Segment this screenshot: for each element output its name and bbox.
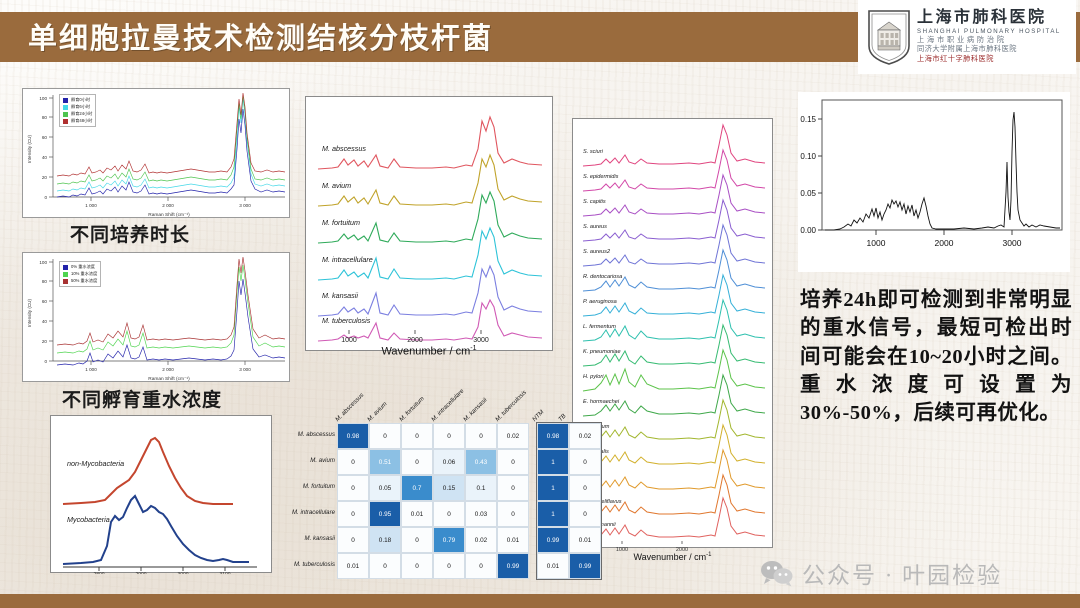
matrix-cell: 0.02 bbox=[465, 527, 497, 553]
other-bacteria-plot bbox=[573, 119, 774, 549]
matrix-row-label: M. intracellulare bbox=[289, 509, 335, 516]
svg-text:2 000: 2 000 bbox=[162, 203, 174, 208]
legend-label: 孵育48小时 bbox=[71, 118, 92, 124]
caption-d2o: 不同孵育重水浓度 bbox=[62, 385, 222, 412]
matrix-cell: 0 bbox=[401, 423, 433, 449]
matrix-cell: 0.06 bbox=[433, 449, 465, 475]
matrix-cell: 0.99 bbox=[497, 553, 529, 579]
legend-label: 孵育6小时 bbox=[71, 104, 90, 110]
svg-text:100: 100 bbox=[39, 96, 47, 101]
bacteria-label: S. aureus bbox=[583, 224, 607, 230]
svg-text:0.10: 0.10 bbox=[800, 152, 816, 161]
bacteria-label: S. capitis bbox=[583, 199, 606, 205]
matrix-col-header: NTM bbox=[531, 409, 545, 423]
matrix-cell: 0.01 bbox=[337, 553, 369, 579]
svg-text:0: 0 bbox=[44, 359, 47, 364]
svg-text:2 000: 2 000 bbox=[162, 367, 174, 372]
matrix-column-headers: M. abscessus M. avium M. fortuitum M. in… bbox=[289, 377, 560, 423]
matrix-cell: 0 bbox=[401, 527, 433, 553]
page-title: 单细胞拉曼技术检测结核分枝杆菌 bbox=[28, 17, 493, 61]
matrix-cell: 0 bbox=[497, 475, 529, 501]
matrix-cell-summary: 0.98 bbox=[537, 423, 569, 449]
legend-item: 10% 重水浓度 bbox=[63, 271, 97, 277]
chart-mycobacteria-cd-band: 28002900 30003100 non-Mycobacteria Mycob… bbox=[50, 415, 272, 573]
matrix-cell: 0 bbox=[337, 527, 369, 553]
matrix-cell: 0.05 bbox=[369, 475, 401, 501]
matrix-cell: 0.01 bbox=[497, 527, 529, 553]
species-label: M. abscessus bbox=[322, 144, 366, 153]
matrix-cell: 0.01 bbox=[401, 501, 433, 527]
matrix-cell: 0.02 bbox=[497, 423, 529, 449]
matrix-cell: 0.98 bbox=[337, 423, 369, 449]
matrix-col-header: M. abscessus bbox=[334, 392, 365, 423]
chart-single-cell-raman: 0.000.05 0.100.15 100020003000 bbox=[798, 92, 1070, 272]
bacteria-label: S. epidermidis bbox=[583, 174, 618, 180]
svg-text:3 000: 3 000 bbox=[239, 367, 251, 372]
matrix-cell-summary: 0 bbox=[569, 475, 601, 501]
matrix-row-label: M. fortuitum bbox=[289, 483, 335, 490]
matrix-col-header: M. avium bbox=[366, 401, 388, 423]
matrix-cell: 0.43 bbox=[465, 449, 497, 475]
d2o-legend: 0% 重水浓度 10% 重水浓度 50% 重水浓度 bbox=[59, 261, 101, 287]
matrix-cell-summary: 1 bbox=[537, 475, 569, 501]
svg-text:2900: 2900 bbox=[135, 572, 146, 574]
matrix-cell-summary: 0.01 bbox=[537, 553, 569, 579]
legend-item: 0% 重水浓度 bbox=[63, 264, 97, 270]
svg-text:3000: 3000 bbox=[473, 337, 489, 344]
legend-label: 孵育0小时 bbox=[71, 97, 90, 103]
watermark: 公众号 · 叶园检验 bbox=[760, 556, 1002, 590]
matrix-cell: 0 bbox=[465, 553, 497, 579]
chart-other-bacteria-spectra: S. sciuri S. epidermidis S. capitis S. a… bbox=[572, 118, 773, 548]
svg-text:0: 0 bbox=[44, 195, 47, 200]
matrix-row-label: M. tuberculosis bbox=[289, 561, 335, 568]
culture-time-legend: 孵育0小时 孵育6小时 孵育24小时 孵育48小时 bbox=[59, 94, 96, 127]
svg-text:1000: 1000 bbox=[341, 337, 357, 344]
legend-swatch bbox=[63, 98, 68, 103]
matrix-cell-summary: 0.01 bbox=[569, 527, 601, 553]
logo-name-en: SHANGHAI PULMONARY HOSPITAL bbox=[917, 27, 1070, 36]
svg-text:3100: 3100 bbox=[219, 572, 230, 574]
svg-text:2000: 2000 bbox=[935, 238, 954, 248]
matrix-cell: 0 bbox=[369, 553, 401, 579]
matrix-row-label: M. avium bbox=[289, 457, 335, 464]
svg-text:3 000: 3 000 bbox=[239, 203, 251, 208]
bacteria-label: S. aureus2 bbox=[583, 249, 610, 255]
matrix-cell: 0 bbox=[497, 449, 529, 475]
chart-d2o-concentration-raman: 020 4060 80100 1 0002 0003 000 Raman Shi… bbox=[22, 252, 290, 382]
matrix-row-label: M. abscessus bbox=[289, 431, 335, 438]
matrix-col-header: M. tuberculosis bbox=[494, 389, 528, 423]
confusion-matrix: M. abscessus M. avium M. fortuitum M. in… bbox=[289, 377, 560, 585]
other-bacteria-xlabel: Wavenumber / cm-1 bbox=[572, 552, 773, 562]
legend-item: 孵育0小时 bbox=[63, 97, 92, 103]
svg-text:2000: 2000 bbox=[407, 337, 423, 344]
matrix-cell: 0 bbox=[433, 423, 465, 449]
bacteria-label: P. aeruginosa bbox=[583, 299, 617, 305]
legend-swatch bbox=[63, 272, 68, 277]
svg-text:3000: 3000 bbox=[177, 572, 188, 574]
legend-swatch bbox=[63, 265, 68, 270]
svg-text:0.05: 0.05 bbox=[800, 189, 816, 198]
svg-text:20: 20 bbox=[42, 175, 48, 180]
svg-text:80: 80 bbox=[42, 279, 48, 284]
species-label: M. fortuitum bbox=[322, 218, 360, 227]
label-mycobacteria: Mycobacteria bbox=[67, 515, 110, 524]
hospital-logo: 上海市肺科医院 SHANGHAI PULMONARY HOSPITAL 上 海 … bbox=[858, 0, 1076, 74]
matrix-cell: 0.7 bbox=[401, 475, 433, 501]
matrix-col-header: TB bbox=[557, 413, 567, 423]
bacteria-label: L. fermentum bbox=[583, 324, 616, 330]
matrix-cell: 0.03 bbox=[465, 501, 497, 527]
svg-text:3000: 3000 bbox=[1003, 238, 1022, 248]
legend-label: 10% 重水浓度 bbox=[71, 271, 97, 277]
matrix-col-header: M. kansasii bbox=[462, 396, 489, 423]
matrix-cell: 0 bbox=[465, 423, 497, 449]
matrix-col-header: M. intracellulare bbox=[430, 388, 465, 423]
legend-item: 孵育24小时 bbox=[63, 111, 92, 117]
logo-sub-1: 上 海 市 职 业 病 防 治 院 bbox=[917, 36, 1070, 45]
legend-item: 孵育6小时 bbox=[63, 104, 92, 110]
chart-culture-time-raman: 020 4060 80100 1 0002 0003 000 Raman Shi… bbox=[22, 88, 290, 218]
svg-text:0.15: 0.15 bbox=[800, 115, 816, 124]
matrix-cell-summary: 0.99 bbox=[569, 553, 601, 579]
species-label: M. tuberculosis bbox=[322, 316, 370, 325]
bacteria-label: S. sciuri bbox=[583, 149, 603, 155]
matrix-cell: 0 bbox=[497, 501, 529, 527]
conclusion-text: 培养24h即可检测到非常明显的重水信号，最短可检出时间可能会在10~20小时之间… bbox=[800, 286, 1072, 427]
matrix-cell: 0.95 bbox=[369, 501, 401, 527]
legend-swatch bbox=[63, 279, 68, 284]
matrix-cell: 0 bbox=[369, 423, 401, 449]
matrix-col-header: M. fortuitum bbox=[398, 395, 426, 423]
matrix-cell-summary: 0 bbox=[569, 449, 601, 475]
svg-text:100: 100 bbox=[39, 260, 47, 265]
legend-swatch bbox=[63, 105, 68, 110]
d2o-ylabel: Intensity (CU) bbox=[27, 298, 32, 327]
matrix-cell: 0 bbox=[401, 449, 433, 475]
chart-mycobacteria-species-spectra: M. abscessus M. avium M. fortuitum M. in… bbox=[305, 96, 553, 351]
svg-text:80: 80 bbox=[42, 115, 48, 120]
culture-time-xlabel: Raman Shift (cm⁻¹) bbox=[148, 212, 190, 218]
matrix-cell-summary: 0.02 bbox=[569, 423, 601, 449]
matrix-cell: 0 bbox=[433, 501, 465, 527]
matrix-cell: 0.51 bbox=[369, 449, 401, 475]
species-xticks: 100020003000 bbox=[305, 330, 553, 344]
svg-text:2800: 2800 bbox=[93, 572, 104, 574]
svg-text:60: 60 bbox=[42, 299, 48, 304]
legend-label: 孵育24小时 bbox=[71, 111, 92, 117]
species-label: M. kansasii bbox=[322, 291, 358, 300]
legend-label: 0% 重水浓度 bbox=[71, 264, 95, 270]
bottom-strip bbox=[0, 594, 1080, 608]
logo-sub-2: 同济大学附属上海市肺科医院 bbox=[917, 45, 1070, 54]
matrix-cell: 0 bbox=[401, 553, 433, 579]
matrix-cell-summary: 1 bbox=[537, 501, 569, 527]
logo-sub-3: 上海市红十字肺科医院 bbox=[917, 55, 1070, 64]
species-label: M. intracellulare bbox=[322, 255, 373, 264]
matrix-cell: 0 bbox=[337, 475, 369, 501]
matrix-cell: 0.15 bbox=[433, 475, 465, 501]
matrix-cell-summary: 0 bbox=[569, 501, 601, 527]
slide-canvas: 单细胞拉曼技术检测结核分枝杆菌 上海市肺科医院 SHANGHAI PULMONA… bbox=[0, 0, 1080, 608]
svg-text:20: 20 bbox=[42, 339, 48, 344]
legend-swatch bbox=[63, 112, 68, 117]
bacteria-label: H. pylori bbox=[583, 374, 604, 380]
d2o-xlabel: Raman Shift (cm⁻¹) bbox=[148, 376, 190, 382]
legend-item: 孵育48小时 bbox=[63, 118, 92, 124]
bacteria-label: K. pneumoniae bbox=[583, 349, 621, 355]
single-cell-plot: 0.000.05 0.100.15 100020003000 bbox=[798, 92, 1070, 272]
species-label: M. avium bbox=[322, 181, 351, 190]
matrix-cell: 0 bbox=[433, 553, 465, 579]
svg-text:60: 60 bbox=[42, 135, 48, 140]
wechat-icon bbox=[760, 559, 794, 587]
svg-text:1000: 1000 bbox=[867, 238, 886, 248]
bacteria-label: E. hormaechei bbox=[583, 399, 619, 405]
cd-band-plot: 28002900 30003100 bbox=[51, 416, 273, 574]
matrix-cell: 0.1 bbox=[465, 475, 497, 501]
svg-text:40: 40 bbox=[42, 155, 48, 160]
matrix-cell: 0 bbox=[337, 449, 369, 475]
species-xlabel: Wavenumber / cm-1 bbox=[305, 345, 553, 358]
matrix-cell: 0 bbox=[337, 501, 369, 527]
logo-name-cn: 上海市肺科医院 bbox=[917, 10, 1070, 27]
matrix-cell: 0.18 bbox=[369, 527, 401, 553]
hospital-crest-icon bbox=[866, 8, 912, 66]
matrix-cell-summary: 1 bbox=[537, 449, 569, 475]
svg-text:1 000: 1 000 bbox=[85, 367, 97, 372]
svg-text:1 000: 1 000 bbox=[85, 203, 97, 208]
matrix-cell: 0.79 bbox=[433, 527, 465, 553]
svg-text:0.00: 0.00 bbox=[800, 226, 816, 235]
legend-label: 50% 重水浓度 bbox=[71, 278, 97, 284]
watermark-text: 公众号 · 叶园检验 bbox=[802, 556, 1002, 590]
caption-culture-time: 不同培养时长 bbox=[70, 220, 190, 247]
bacteria-label: R. dentocariosa bbox=[583, 274, 622, 280]
other-bacteria-xticks: 10002000 bbox=[572, 540, 773, 552]
matrix-cell-summary: 0.99 bbox=[537, 527, 569, 553]
svg-text:40: 40 bbox=[42, 319, 48, 324]
culture-time-ylabel: Intensity (CU) bbox=[27, 134, 32, 163]
legend-item: 50% 重水浓度 bbox=[63, 278, 97, 284]
label-non-mycobacteria: non-Mycobacteria bbox=[67, 459, 124, 468]
matrix-row-label: M. kansasii bbox=[289, 535, 335, 542]
legend-swatch bbox=[63, 119, 68, 124]
